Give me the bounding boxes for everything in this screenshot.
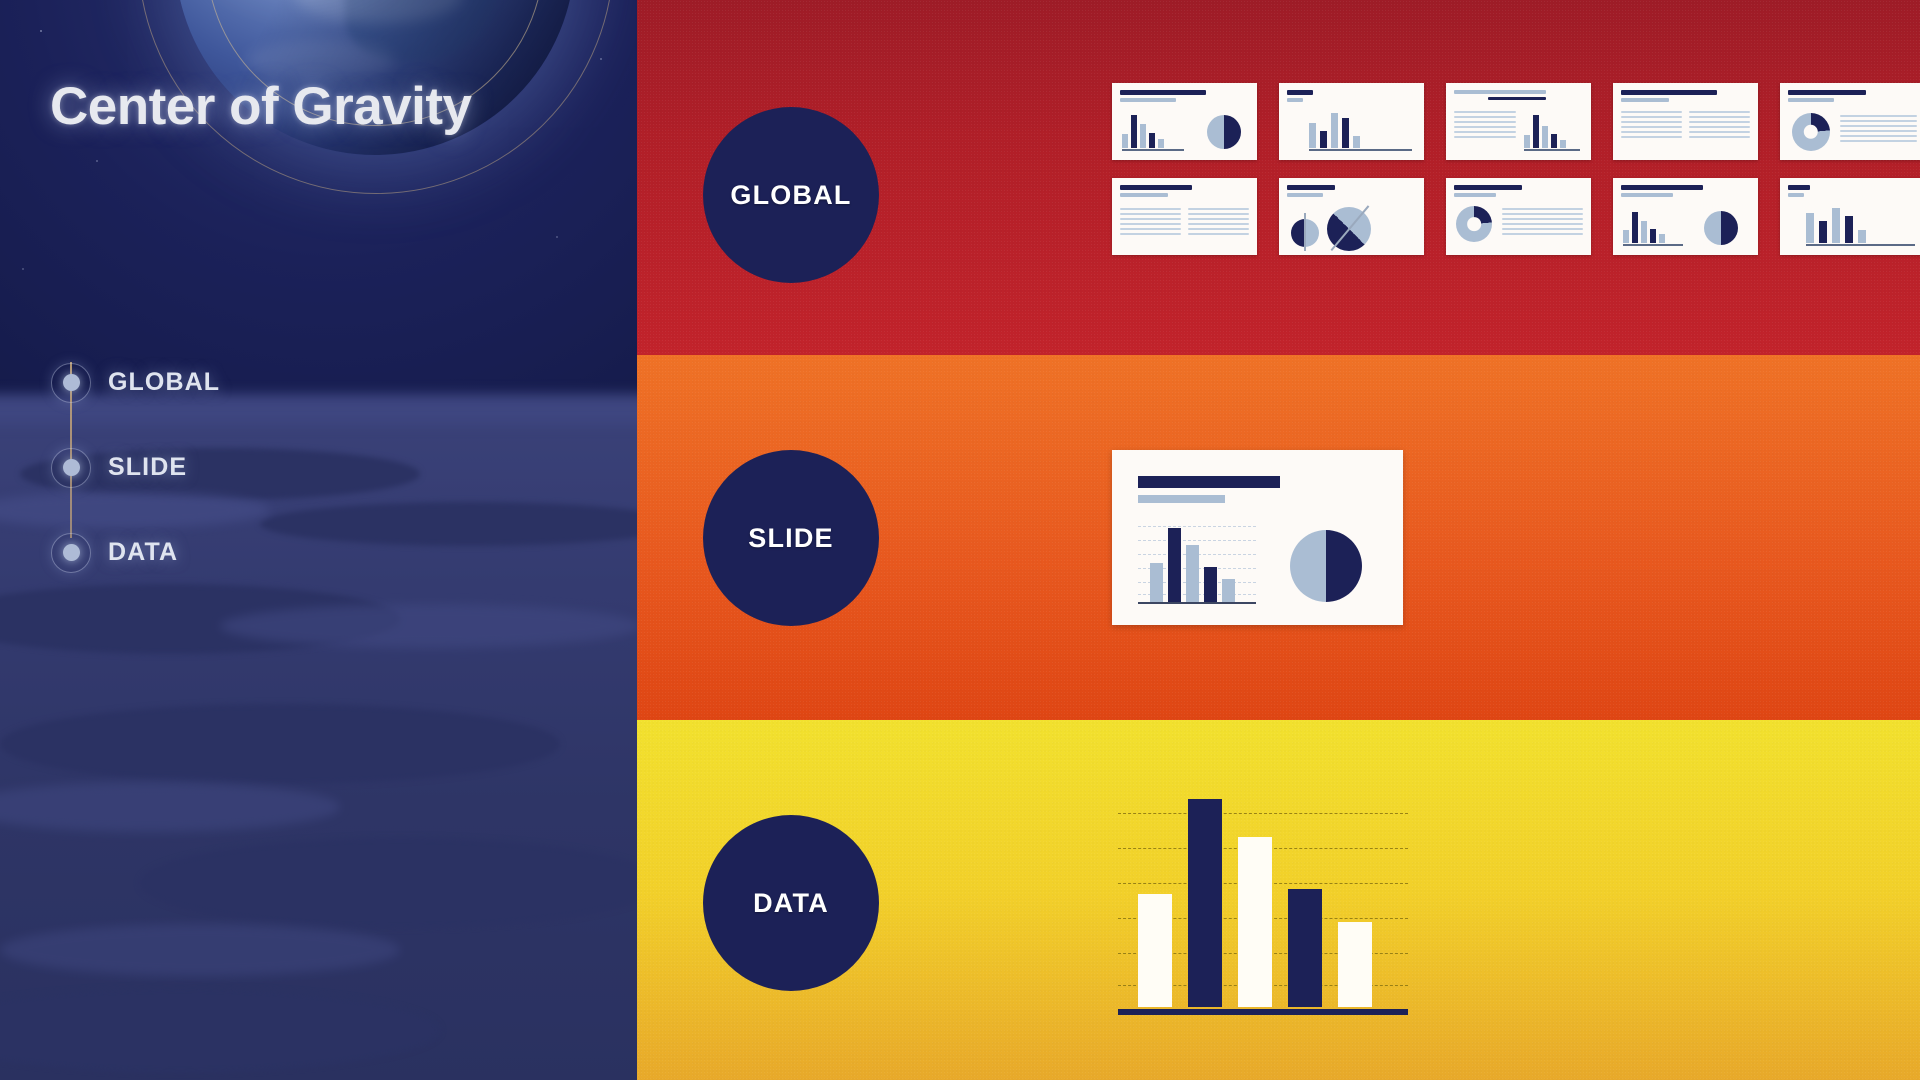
- slide-title-bar: [1138, 476, 1280, 488]
- nav-item-slide[interactable]: SLIDE: [50, 425, 350, 510]
- nav-dot-icon: [50, 362, 92, 404]
- nav-item-data[interactable]: DATA: [50, 510, 350, 595]
- badge-data[interactable]: DATA: [703, 815, 879, 991]
- badge-slide[interactable]: SLIDE: [703, 450, 879, 626]
- bar: [1288, 889, 1322, 1007]
- nav-item-global[interactable]: GLOBAL: [50, 340, 350, 425]
- chart-baseline: [1118, 1009, 1408, 1015]
- bar: [1338, 922, 1372, 1007]
- slide-subtitle-bar: [1138, 495, 1225, 503]
- thumbnail-grid: [1112, 83, 1920, 255]
- thumbnail-slide[interactable]: [1279, 83, 1424, 160]
- nav-dot-icon: [50, 532, 92, 574]
- badge-label: GLOBAL: [730, 180, 851, 211]
- presentation-slide: Center of Gravity GLOBAL SLIDE DATA: [0, 0, 1920, 1080]
- thumbnail-slide[interactable]: [1446, 178, 1591, 255]
- bar-series: [1138, 785, 1372, 1007]
- nav-dot-icon: [50, 447, 92, 489]
- bar: [1238, 837, 1272, 1007]
- bar: [1138, 894, 1172, 1007]
- single-slide-preview[interactable]: [1112, 450, 1403, 625]
- thumbnail-slide[interactable]: [1279, 178, 1424, 255]
- data-bar-chart: [1118, 785, 1408, 1015]
- thumbnail-slide[interactable]: [1112, 83, 1257, 160]
- thumbnail-slide[interactable]: [1613, 83, 1758, 160]
- badge-global[interactable]: GLOBAL: [703, 107, 879, 283]
- thumbnail-slide[interactable]: [1780, 178, 1920, 255]
- thumbnail-slide[interactable]: [1780, 83, 1920, 160]
- nav-item-label: SLIDE: [108, 453, 187, 482]
- nav-item-label: DATA: [108, 538, 178, 567]
- slide-pie-chart: [1290, 530, 1362, 602]
- slide-bar-chart: [1138, 524, 1256, 604]
- left-panel: Center of Gravity GLOBAL SLIDE DATA: [0, 0, 637, 1080]
- thumbnail-slide[interactable]: [1613, 178, 1758, 255]
- nav-item-label: GLOBAL: [108, 368, 220, 397]
- bar: [1188, 799, 1222, 1007]
- badge-label: DATA: [753, 888, 829, 919]
- page-title: Center of Gravity: [50, 76, 472, 137]
- nav-list: GLOBAL SLIDE DATA: [50, 340, 350, 595]
- badge-label: SLIDE: [748, 523, 834, 554]
- thumbnail-slide[interactable]: [1112, 178, 1257, 255]
- thumbnail-slide[interactable]: [1446, 83, 1591, 160]
